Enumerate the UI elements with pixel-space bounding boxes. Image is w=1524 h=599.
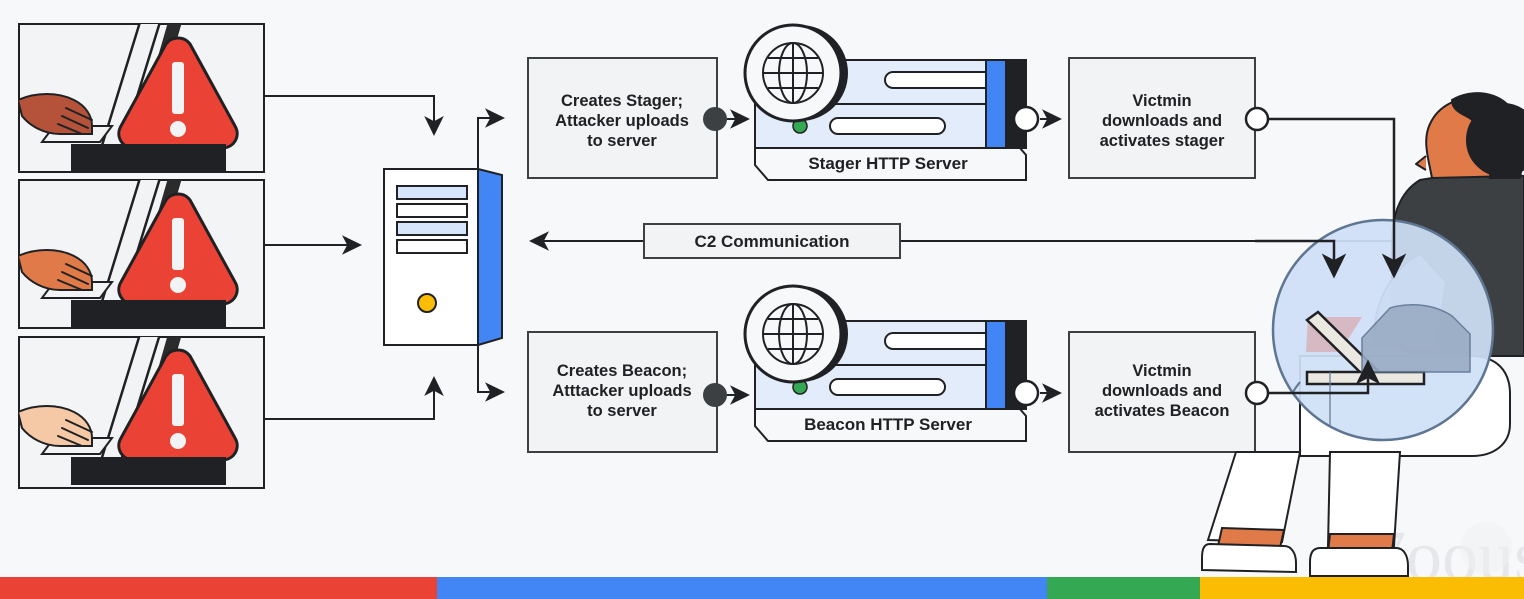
victim-beacon-line-1: Victmin [1132, 362, 1191, 380]
globe-icon [745, 286, 848, 382]
victim-stager-out-port [1246, 108, 1268, 130]
globe-icon [745, 25, 848, 121]
attacker-label-2: Attacker 2 [109, 307, 186, 324]
server-accent-strip [986, 60, 1006, 148]
leg-front [1328, 452, 1400, 546]
creates-beacon-line-2: Atttacker uploads [552, 382, 691, 400]
stager-http-server-label: Stager HTTP Server [808, 154, 968, 173]
diagram-canvas: 7oous [0, 0, 1524, 599]
server-drive-slot-bottom [830, 118, 945, 134]
footer-segment-blue [437, 577, 1047, 599]
creates-stager-line-2: Attacker uploads [555, 112, 689, 130]
victim-beacon-line-3: activates Beacon [1095, 402, 1230, 420]
server-drive-slot-bottom [830, 379, 945, 395]
creates-beacon-line-1: Creates Beacon; [557, 362, 687, 380]
victim-stager-line-1: Victmin [1132, 92, 1191, 110]
attacker-panel-2[interactable]: Attacker 2 [18, 178, 264, 328]
victim-beacon-out-port [1246, 382, 1268, 404]
footer-color-bar [0, 577, 1524, 599]
victim-stager-line-2: downloads and [1102, 112, 1222, 130]
beacon-upload-port [703, 383, 727, 407]
victim-box-beacon[interactable]: Victmin downloads and activates Beacon [1069, 332, 1255, 452]
process-box-creates-stager[interactable]: Creates Stager; Attacker uploads to serv… [528, 58, 717, 178]
victim-stager-line-3: activates stager [1100, 132, 1225, 150]
process-box-creates-beacon[interactable]: Creates Beacon; Atttacker uploads to ser… [528, 332, 717, 452]
beacon-http-server-label: Beacon HTTP Server [804, 415, 972, 434]
footer-segment-green [1047, 577, 1200, 599]
tower-slot-1 [397, 186, 467, 199]
stager-upload-port [703, 107, 727, 131]
laptop-base [1307, 372, 1424, 384]
footer-segment-red [0, 577, 437, 599]
server-accent-strip [986, 321, 1006, 409]
tower-slot-2 [397, 204, 467, 217]
victim-beacon-line-2: downloads and [1102, 382, 1222, 400]
shoe-back [1202, 544, 1296, 572]
attacker-label-1: Attacker 1 [109, 151, 186, 168]
server-drive-slot-top [885, 72, 995, 88]
footer-segment-yellow [1200, 577, 1524, 599]
attacker-panel-group: Attacker 1 [18, 22, 264, 488]
creates-stager-line-1: Creates Stager; [561, 92, 683, 110]
tower-slot-3 [397, 222, 467, 235]
server-drive-slot-top [885, 333, 995, 349]
c2-communication-label: C2 Communication [695, 232, 850, 251]
attacker-panel-1[interactable]: Attacker 1 [18, 22, 264, 172]
server-side-panel [1006, 60, 1026, 148]
creates-beacon-line-3: to server [587, 402, 657, 420]
attacker-label-3: Attacker 3 [109, 464, 186, 481]
tower-slot-4 [397, 240, 467, 253]
stager-server-out-port [1014, 107, 1038, 131]
attacker-panel-3[interactable]: Attacker 3 [18, 334, 264, 488]
victim-box-stager[interactable]: Victmin downloads and activates stager [1069, 58, 1255, 178]
shoe-front [1310, 548, 1408, 576]
c2-server-tower[interactable] [384, 169, 502, 345]
beacon-server-out-port [1014, 381, 1038, 405]
creates-stager-line-3: to server [587, 132, 657, 150]
tower-power-led [418, 294, 436, 312]
